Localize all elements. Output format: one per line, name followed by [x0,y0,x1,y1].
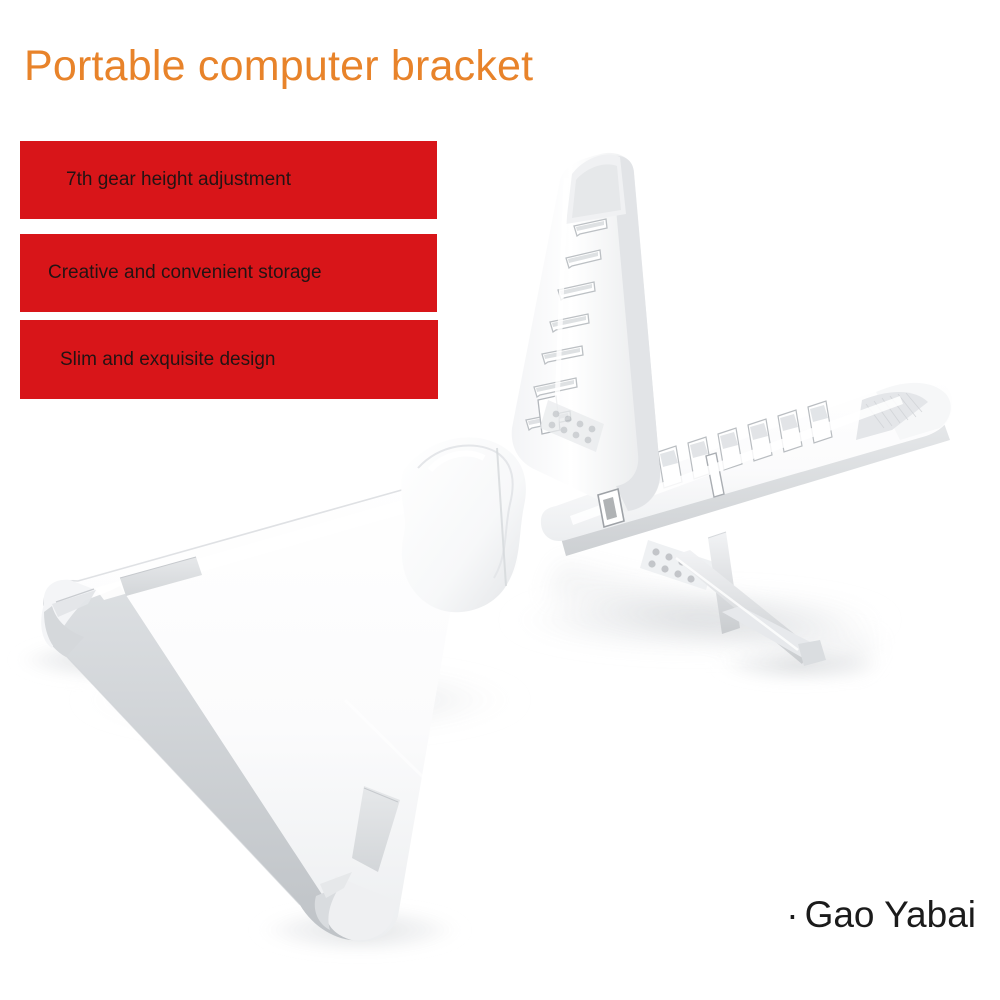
stand-foot-bottom [315,872,398,940]
honeycomb-vent-lower [640,540,714,590]
page-title: Portable computer bracket [24,40,533,92]
brand-name: ·Gao Yabai [786,892,976,938]
feature-banner-height-adjustment: 7th gear height adjustment [20,141,437,219]
anti-slip-pad-left [120,557,202,596]
support-leg-wire [672,532,826,666]
feature-banner-label: 7th gear height adjustment [20,168,291,192]
feature-banner-storage: Creative and convenient storage [20,234,437,312]
stand-arm-right [541,377,952,556]
feature-banner-label: Slim and exquisite design [20,348,275,372]
center-hinge-hub [401,437,526,612]
stand-foot-left [41,580,96,657]
feature-banner-design: Slim and exquisite design [20,320,438,399]
feature-banner-label: Creative and convenient storage [20,261,322,285]
product-marketing-image: Portable computer bracket 7th gear heigh… [0,0,1000,1000]
product-shadow [10,530,900,956]
brand-label: Gao Yabai [805,894,976,935]
stand-ratchet-arm [512,153,660,512]
latch-slot-right [706,453,724,497]
ratchet-slots [526,219,607,430]
vent-slots-right [658,401,832,488]
hinge-latch-window [598,489,624,527]
ratchet-arm-tip-pad [566,154,626,224]
honeycomb-vent-upper [540,400,604,452]
stand-arm-left-front [43,473,486,941]
textured-pad-right [856,392,928,440]
anti-slip-pad-bottom [352,786,400,872]
brand-separator-dot: · [786,894,798,935]
